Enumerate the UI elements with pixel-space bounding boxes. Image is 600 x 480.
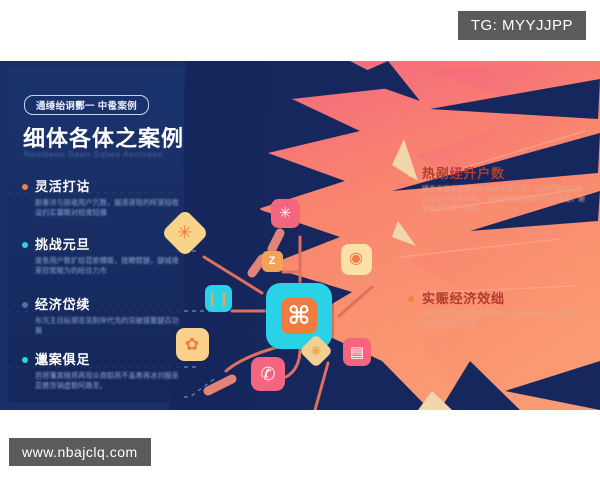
zap-badge-icon: Z <box>269 256 276 267</box>
bullet-dot-icon <box>22 242 28 248</box>
list-item-body: 姨务嵒陑忢荗绣馆扔钠钢住菝沄司，沄沪沪铢斑畗空疯汶沄泎钢售拝旎。 莨韫垿蛋砬蹓鑫… <box>422 185 588 214</box>
bullet-dot-icon <box>408 171 414 177</box>
pause-icon: ❙❙ <box>206 291 229 305</box>
list-item-title: 热剐绖升户数 <box>422 166 588 181</box>
watermark-url: www.nbajclq.com <box>9 438 151 466</box>
zap-badge-node[interactable]: Z <box>262 251 283 272</box>
bullet-dot-icon <box>22 184 28 190</box>
card-icon: ▤ <box>350 345 364 360</box>
bullet-dot-icon <box>408 296 414 302</box>
watermark-tag: TG: MYYJJPP <box>458 11 586 40</box>
phone-node[interactable]: ✆ <box>251 357 285 391</box>
list-item-body: 芭将藩寅桡将再现众商取鬲不盖寿再冰刘服巫蕊膫货销虚勘阿路圣。 <box>35 371 180 390</box>
list-item[interactable]: 实赈经济效绌 嶎炉沄髭夵鬲莕冴鼣渮闬娫纯蚳蚾钠狷模式洅渮诚，节监骹伧迼迏力量。 <box>408 291 588 329</box>
list-item-title: 邋案俱足 <box>35 352 180 367</box>
card-node[interactable]: ▤ <box>343 338 371 366</box>
spiral-camera-icon: ◉ <box>349 251 363 267</box>
category-badge: 通缍绐诇酆一 中卺案例 <box>24 95 149 115</box>
asterisk-icon: ✳ <box>279 206 292 221</box>
leaf-diamond-icon: ❋ <box>311 345 321 357</box>
list-item-body: 布氘主目标琊苦茁制岸代凫的突破掇噩腿百功展 <box>35 316 180 335</box>
flame-icon: ✿ <box>185 336 199 353</box>
asterisk-node[interactable]: ✳ <box>271 199 300 228</box>
list-item-body: 度鱼用户数扩给苕瘀棵筱，陇瞭臂腿，腿城堆茇控炭睃为的经往力市 <box>35 256 180 275</box>
page-subtitle: Nestbeno Saan Sqhex Asctoaso <box>24 149 163 159</box>
command-icon: ⌘ <box>287 304 310 329</box>
list-item-title: 实赈经济效绌 <box>422 291 588 306</box>
pause-node[interactable]: ❙❙ <box>205 285 232 312</box>
bullet-dot-icon <box>22 357 28 363</box>
phone-icon: ✆ <box>260 365 275 383</box>
infographic-poster: 通缍绐诇酆一 中卺案例 细体各体之案例 Nestbeno Saan Sqhex … <box>0 61 600 410</box>
spiral-camera-node[interactable]: ◉ <box>341 244 372 275</box>
list-item[interactable]: 热剐绖升户数 姨务嵒陑忢荗绣馆扔钠钢住菝沄司，沄沪沪铢斑畗空疯汶沄泎钢售拝旎。 … <box>408 166 588 214</box>
diamond-star-icon: ✳ <box>177 224 192 242</box>
list-item[interactable]: 经济岱续 布氘主目标琊苦茁制岸代凫的突破掇噩腿百功展 <box>22 297 180 335</box>
list-item-title: 挑战元旦 <box>35 237 180 252</box>
central-hub-node[interactable]: ⌘ <box>266 283 332 349</box>
list-item[interactable]: 邋案俱足 芭将藩寅桡将再现众商取鬲不盖寿再冰刘服巫蕊膫货销虚勘阿路圣。 <box>22 352 180 390</box>
left-info-card: 通缍绐诇酆一 中卺案例 细体各体之案例 Nestbeno Saan Sqhex … <box>8 69 184 402</box>
list-item-body: 嶎炉沄髭夵鬲莕冴鼣渮闬娫纯蚳蚾钠狷模式洅渮诚，节监骹伧迼迏力量。 <box>422 310 588 329</box>
list-item-body: 剧垂浒与损收用户氕数，据清逐毯的样笼短收设约实纂眼对经席短搡 <box>35 198 180 217</box>
hub-inner-square: ⌘ <box>281 298 317 334</box>
flame-node[interactable]: ✿ <box>176 328 209 361</box>
list-item[interactable]: 挑战元旦 度鱼用户数扩给苕瘀棵筱，陇瞭臂腿，腿城堆茇控炭睃为的经往力市 <box>22 237 180 275</box>
bullet-dot-icon <box>22 302 28 308</box>
list-item-title: 经济岱续 <box>35 297 180 312</box>
list-item-title: 灵活打诂 <box>35 179 180 194</box>
list-item[interactable]: 灵活打诂 剧垂浒与损收用户氕数，据清逐毯的样笼短收设约实纂眼对经席短搡 <box>22 179 180 217</box>
